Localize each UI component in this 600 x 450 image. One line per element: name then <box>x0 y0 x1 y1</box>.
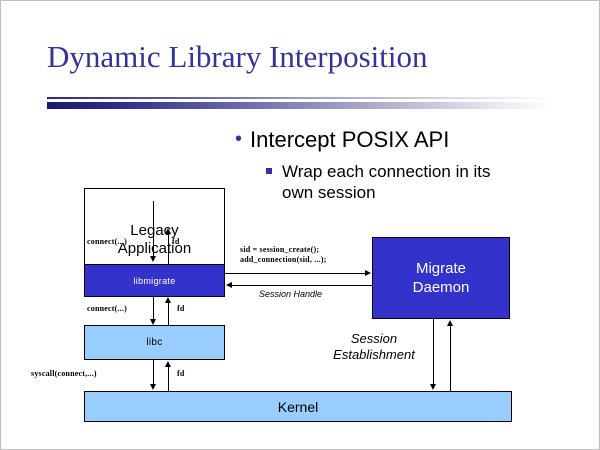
arrow-daemon-to-kernel-head <box>430 384 436 390</box>
arrow-libmigrate-to-app-head <box>165 228 171 234</box>
label-syscall-fd: fd <box>177 369 185 378</box>
label-add-connection: add_connection(sid, ...); <box>240 255 327 264</box>
label-session-establishment: Session Establishment <box>329 331 419 363</box>
label-session-create: sid = session_create(); <box>240 245 319 254</box>
page-title: Dynamic Library Interposition <box>47 39 567 75</box>
arrow-app-to-libmigrate-line <box>153 201 154 257</box>
arrow-kernel-to-daemon-head <box>447 320 453 326</box>
arrow-libc-to-libmigrate-line <box>168 302 169 325</box>
box-libc: libc <box>84 325 225 360</box>
box-libmigrate: libmigrate <box>84 264 225 297</box>
label-session-api: sid = session_create(); add_connection(s… <box>240 245 327 265</box>
title-gradient-bar <box>47 102 555 109</box>
box-migrate-daemon: Migrate Daemon <box>372 237 510 319</box>
label-lib-connect: connect(...) <box>87 304 127 313</box>
arrow-daemon-to-libmigrate-line <box>232 285 372 286</box>
legacy-line2: Application <box>118 240 191 257</box>
arrow-libmigrate-to-libc-head <box>150 319 156 325</box>
bullet-dot-icon: • <box>235 128 242 151</box>
arrow-libc-to-kernel-head <box>150 384 156 390</box>
arrow-app-to-libmigrate-head <box>150 256 156 262</box>
arrow-libc-to-kernel-line <box>153 360 154 385</box>
bullet-square-icon <box>266 168 272 174</box>
box-legacy-application-label: Legacy Application <box>118 222 191 258</box>
bullet-level2: Wrap each connection in its own session <box>266 161 524 203</box>
slide-canvas: Dynamic Library Interposition •Intercept… <box>0 0 600 450</box>
arrow-daemon-to-kernel-line <box>433 319 434 385</box>
arrow-kernel-to-daemon-line <box>450 325 451 391</box>
box-migrate-daemon-label: Migrate Daemon <box>413 259 470 297</box>
arrow-libmigrate-to-daemon-head <box>365 270 371 276</box>
daemon-line2: Daemon <box>413 279 470 296</box>
label-lib-fd: fd <box>177 304 185 313</box>
label-session-handle: Session Handle <box>259 289 322 299</box>
label-app-fd: fd <box>172 237 180 246</box>
bullet-level1: •Intercept POSIX API <box>235 127 449 153</box>
label-app-connect: connect(...) <box>87 237 127 246</box>
label-session-establishment-line2: Establishment <box>333 347 415 362</box>
arrow-libmigrate-to-daemon-line <box>225 273 366 274</box>
arrow-libmigrate-to-app-line <box>168 233 169 265</box>
daemon-line1: Migrate <box>416 260 466 277</box>
bullet-level1-text: Intercept POSIX API <box>250 127 449 152</box>
label-syscall: syscall(connect,...) <box>31 369 97 378</box>
bullet-level2-text: Wrap each connection in its own session <box>282 161 524 203</box>
label-session-establishment-line1: Session <box>351 331 397 346</box>
box-kernel: Kernel <box>84 391 512 422</box>
box-legacy-application: Legacy Application <box>84 188 225 265</box>
arrow-libmigrate-to-libc-line <box>153 297 154 320</box>
arrow-libc-to-libmigrate-head <box>165 297 171 303</box>
arrow-daemon-to-libmigrate-head <box>226 282 232 288</box>
arrow-kernel-to-libc-head <box>165 361 171 367</box>
title-rule <box>47 97 555 99</box>
arrow-kernel-to-libc-line <box>168 366 169 391</box>
